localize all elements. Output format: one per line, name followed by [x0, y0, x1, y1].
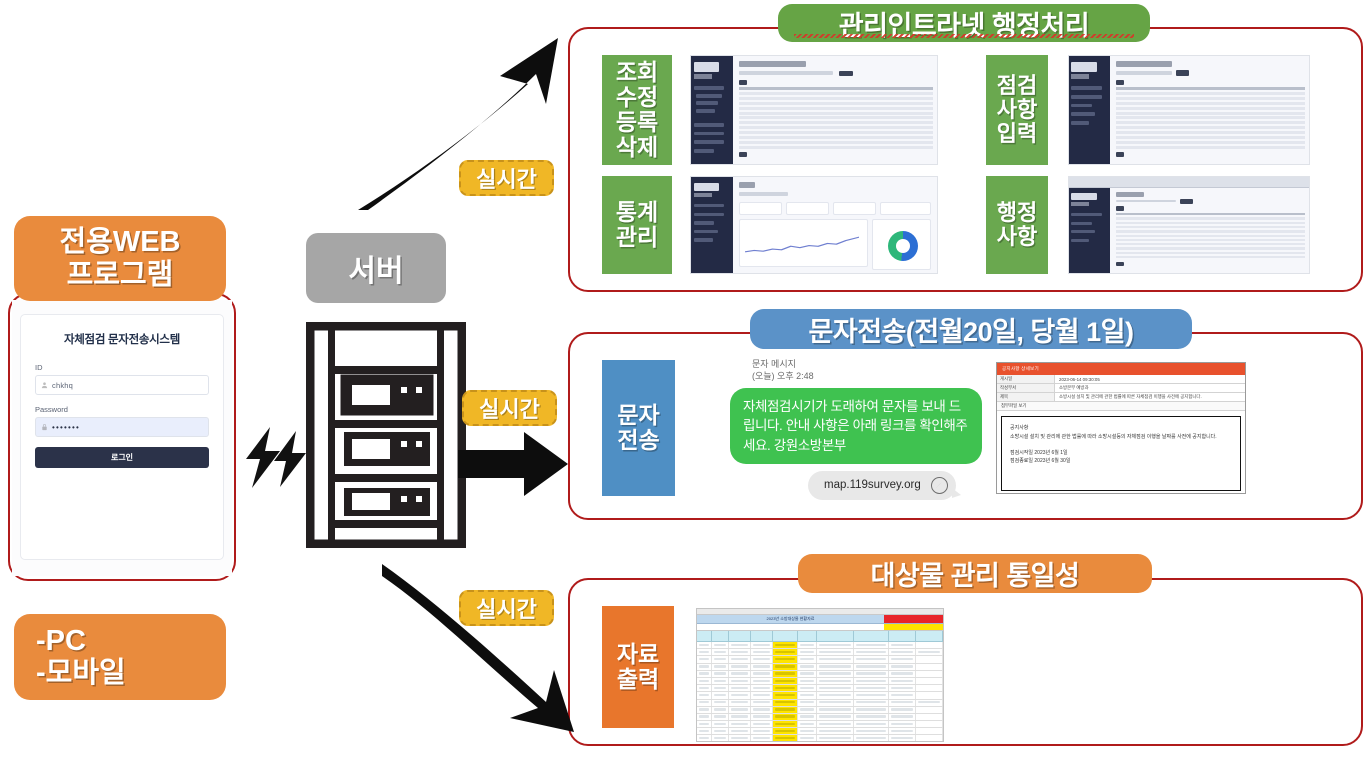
realtime-badge-label: 실시간	[479, 392, 540, 424]
tile-line: 사항	[997, 98, 1037, 122]
notice-row: 제목 소방시설 설치 및 관리에 관한 법률에 따른 자체점검 이행을 사전에 …	[997, 393, 1245, 402]
logo	[694, 62, 720, 72]
realtime-badge-label: 실시간	[476, 162, 537, 194]
tile-administrative-matters[interactable]: 행정 사항	[986, 176, 1048, 274]
donut-chart	[888, 231, 918, 261]
notice-start-date: 점검시작일 2023년 6월 1일	[1010, 449, 1232, 458]
banner-admin-intranet: 관리인트라넷 행정처리	[778, 4, 1150, 42]
tile-line: 전송	[617, 428, 659, 453]
spellcheck-squiggle	[794, 34, 1134, 38]
notice-body: 공지사항 소방시설 설치 및 관리에 관한 법률에 따라 소방시설등의 자체점검…	[1001, 416, 1241, 491]
banner-sms-transmission: 문자전송(전월20일, 당월 1일)	[750, 309, 1192, 349]
notice-row-value: 소방시설 설치 및 관리에 관한 법률에 따른 자체점검 이행을 사전에 공지합…	[1055, 393, 1245, 401]
screenshot-administrative-list[interactable]	[1068, 176, 1310, 274]
card-devices: -PC -모바일	[14, 614, 226, 700]
notice-row: 게시일 2023-06-14 09:30:05	[997, 375, 1245, 384]
compass-icon	[931, 477, 948, 494]
arrow-to-sms	[458, 430, 570, 500]
diagram-canvas: 관리인트라넷 행정처리 조회 수정 등록 삭제 통계 관리 점검 사항 입력 행…	[0, 0, 1366, 759]
server-rack-icon	[306, 322, 466, 548]
card-web-program: 전용WEB 프로그램	[14, 216, 226, 301]
tile-line: 출력	[617, 667, 659, 692]
tile-line: 사항	[997, 225, 1037, 249]
devices-line2: -모바일	[36, 657, 126, 689]
id-value: chkhq	[52, 381, 73, 390]
user-icon	[41, 381, 48, 389]
sms-message-mock: 문자 메시지 (오늘) 오후 2:48 자체점검시기가 도래하여 문자를 보내 …	[690, 358, 990, 500]
id-field[interactable]: chkhq	[35, 375, 209, 395]
sidebar	[691, 177, 733, 273]
arrow-to-target-management	[378, 560, 578, 735]
panel-target-management	[568, 578, 1363, 746]
tile-line: 입력	[997, 122, 1037, 146]
tile-line: 문자	[617, 403, 659, 428]
password-field[interactable]: •••••••	[35, 417, 209, 437]
notice-row-key: 작성부서	[997, 384, 1055, 392]
sms-meta-time: (오늘) 오후 2:48	[752, 370, 990, 382]
trend-line-chart	[745, 235, 859, 256]
banner-sms-label: 문자전송(전월20일, 당월 1일)	[809, 310, 1134, 349]
sms-meta-title: 문자 메시지	[752, 358, 990, 370]
notice-row-key: 제목	[997, 393, 1055, 401]
sms-link-chip[interactable]: map.119survey.org	[808, 471, 956, 500]
sidebar	[1069, 56, 1110, 164]
tile-line: 점검	[997, 74, 1037, 98]
realtime-badge-sms: 실시간	[462, 390, 557, 426]
banner-target-label: 대상물 관리 통일성	[871, 554, 1080, 593]
lightning-bolt-icon	[240, 425, 310, 490]
tile-line: 통계	[616, 200, 658, 225]
web-program-line2: 프로그램	[67, 259, 174, 291]
id-label: ID	[35, 363, 209, 372]
notice-body-title: 공지사항	[1010, 424, 1232, 433]
notice-row-key: 게시일	[997, 375, 1055, 383]
notice-row: 작성부서 소방본부 예방과	[997, 384, 1245, 393]
tile-sms-send[interactable]: 문자 전송	[602, 360, 675, 496]
login-card: 자체점검 문자전송시스템 ID chkhq Password ••••••• 로…	[20, 314, 224, 560]
notice-header: 공지사항 상세보기	[997, 363, 1245, 375]
screenshot-record-list[interactable]	[690, 55, 938, 165]
sidebar	[691, 56, 733, 164]
tile-view-edit-register-delete[interactable]: 조회 수정 등록 삭제	[602, 55, 672, 165]
banner-target-management: 대상물 관리 통일성	[798, 554, 1152, 593]
login-button[interactable]: 로그인	[35, 447, 209, 468]
tile-data-export[interactable]: 자료 출력	[602, 606, 674, 728]
logo	[1071, 62, 1096, 72]
tile-statistics-management[interactable]: 통계 관리	[602, 176, 672, 274]
realtime-badge-label: 실시간	[476, 592, 537, 624]
tile-line: 자료	[617, 642, 659, 667]
password-value: •••••••	[52, 423, 80, 432]
realtime-badge-export: 실시간	[459, 590, 554, 626]
server-box: 서버	[306, 233, 446, 303]
sms-bubble: 자체점검시기가 도래하여 문자를 보내 드립니다. 안내 사항은 아래 링크를 …	[730, 388, 982, 463]
logo	[1071, 193, 1096, 201]
tile-line: 행정	[997, 201, 1037, 225]
sms-link-url: map.119survey.org	[824, 479, 921, 491]
devices-line1: -PC	[36, 625, 86, 657]
screenshot-excel-export[interactable]: 2023년 소방대상물 현황자료	[696, 608, 944, 742]
tile-line: 조회	[616, 60, 658, 85]
password-label: Password	[35, 405, 209, 414]
notice-body-text: 소방시설 설치 및 관리에 관한 법률에 따라 소방시설등의 자체점검 이행을 …	[1010, 433, 1232, 442]
notice-row-value: 2023-06-14 09:30:05	[1055, 376, 1245, 383]
login-screen-mock: 자체점검 문자전송시스템 ID chkhq Password ••••••• 로…	[12, 300, 232, 576]
login-title: 자체점검 문자전송시스템	[35, 331, 209, 347]
screenshot-statistics-dashboard[interactable]	[690, 176, 938, 274]
tile-inspection-input[interactable]: 점검 사항 입력	[986, 55, 1048, 165]
notice-document-mock[interactable]: 공지사항 상세보기 게시일 2023-06-14 09:30:05 작성부서 소…	[996, 362, 1246, 494]
tile-line: 관리	[616, 225, 658, 250]
server-label: 서버	[348, 246, 403, 290]
tile-line: 등록	[616, 110, 658, 135]
screenshot-inspection-input[interactable]	[1068, 55, 1310, 165]
tile-line: 수정	[616, 85, 658, 110]
tile-line: 삭제	[616, 135, 658, 160]
notice-end-date: 점검종료일 2023년 6월 30일	[1010, 457, 1232, 466]
notice-attachment-row[interactable]: 첨부파일 보기	[997, 402, 1245, 411]
logo	[694, 183, 720, 192]
web-program-line1: 전용WEB	[59, 226, 180, 258]
notice-row-value: 소방본부 예방과	[1055, 384, 1245, 392]
sidebar	[1069, 188, 1110, 273]
lock-icon	[41, 423, 48, 431]
realtime-badge-admin: 실시간	[459, 160, 554, 196]
sms-meta: 문자 메시지 (오늘) 오후 2:48	[752, 358, 990, 382]
